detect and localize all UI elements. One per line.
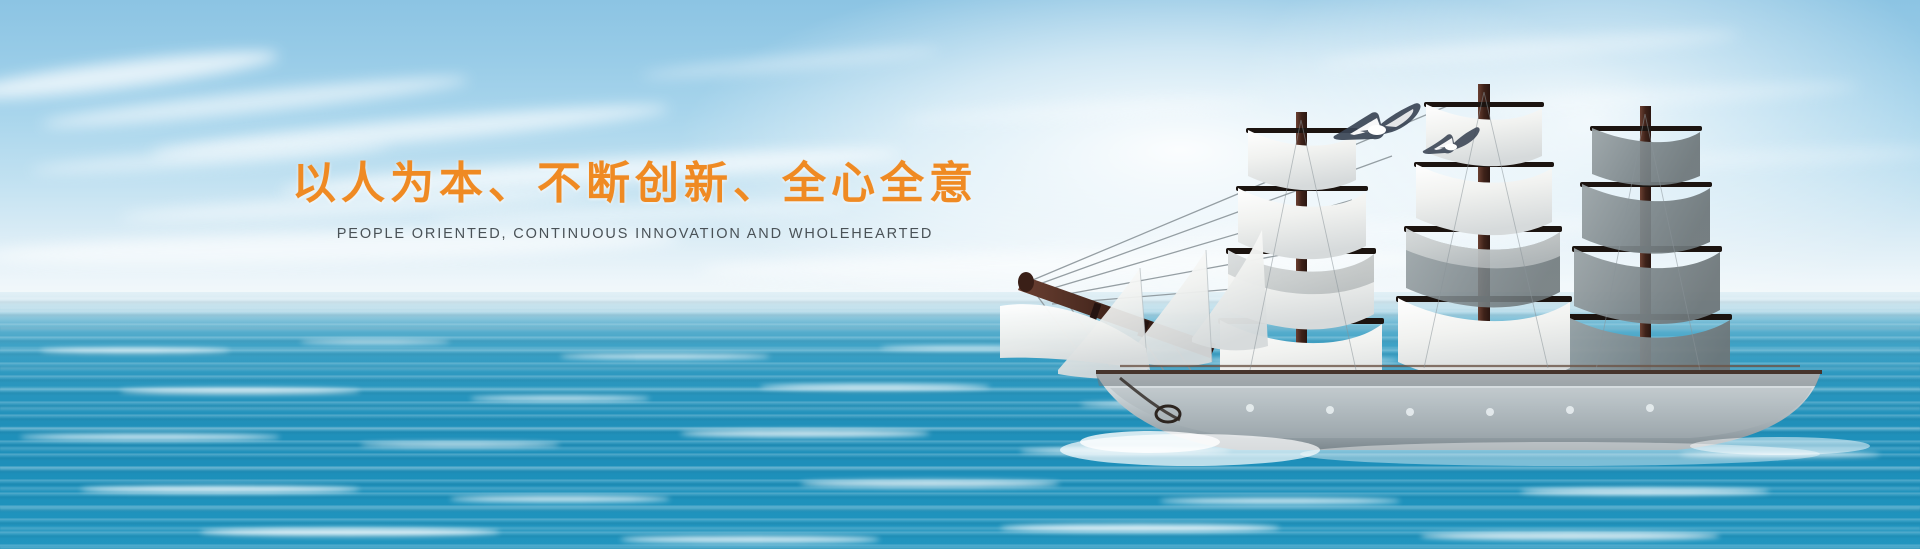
cloud-wisp (0, 43, 280, 108)
cloud-wisp (40, 70, 470, 135)
foam-streak (1160, 498, 1400, 504)
foam-streak (20, 434, 280, 440)
seagull-icon (1330, 100, 1426, 158)
foam-streak (560, 354, 770, 359)
foam-streak (1000, 524, 1280, 532)
page-title: 以人为本、不断创新、全心全意 (0, 158, 1270, 210)
page-subtitle: PEOPLE ORIENTED, CONTINUOUS INNOVATION A… (0, 226, 1270, 242)
banner-text-block: 以人为本、不断创新、全心全意 PEOPLE ORIENTED, CONTINUO… (0, 158, 1270, 242)
foam-streak (80, 486, 360, 493)
cloud-wisp (640, 43, 940, 83)
foam-streak (760, 384, 990, 390)
hero-banner: 以人为本、不断创新、全心全意 PEOPLE ORIENTED, CONTINUO… (0, 0, 1920, 549)
foam-streak (470, 396, 650, 401)
foam-streak (200, 528, 500, 536)
foam-streak (40, 348, 230, 353)
seagull-icon (1420, 125, 1482, 165)
foam-streak (360, 442, 560, 447)
foam-streak (1520, 488, 1770, 495)
foam-streak (450, 496, 670, 502)
foam-streak (680, 430, 930, 437)
foam-streak (800, 480, 1060, 487)
foam-streak (1420, 532, 1720, 540)
foam-streak (120, 388, 360, 394)
foam-streak (300, 340, 450, 344)
cloud-wisp (150, 97, 670, 164)
foam-streak (620, 536, 880, 543)
